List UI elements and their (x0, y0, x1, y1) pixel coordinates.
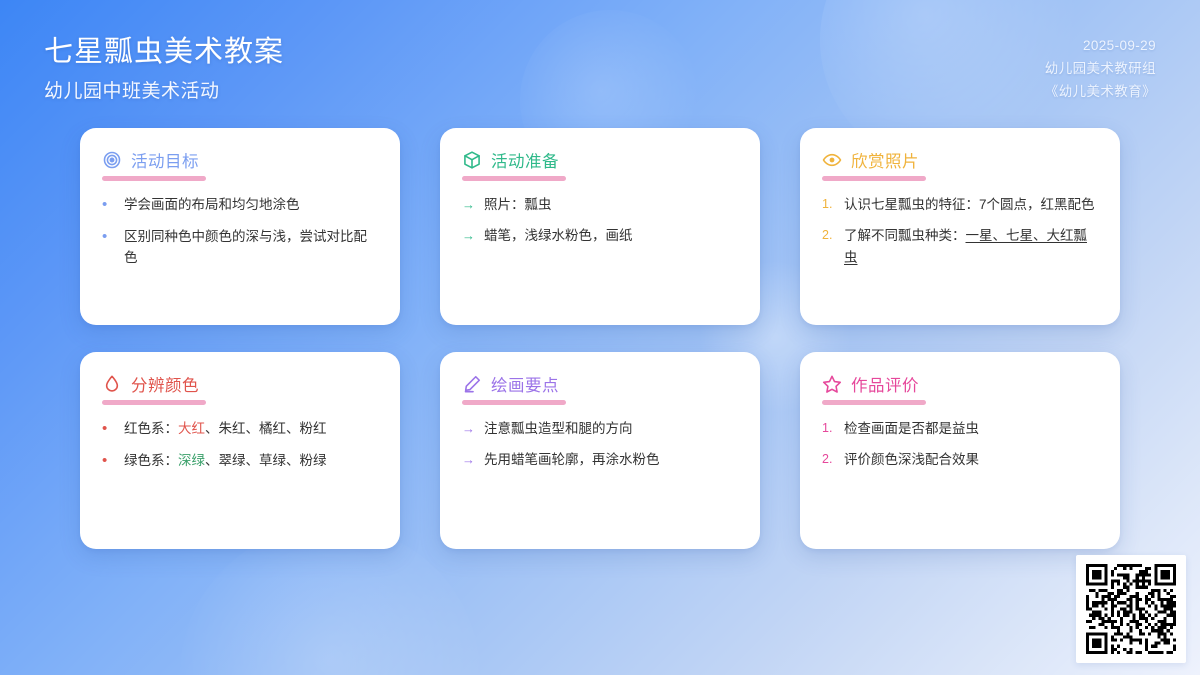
slide-header: 七星瓢虫美术教案 幼儿园中班美术活动 2025-09-29 幼儿园美术教研组 《… (0, 0, 1200, 128)
card-title: 分辨颜色 (131, 372, 199, 396)
list-item-text: 学会画面的布局和均匀地涂色 (124, 194, 378, 216)
meta-date: 2025-09-29 (1045, 34, 1156, 57)
card-title-underline (462, 400, 566, 405)
list-item-marker: → (462, 194, 475, 216)
qr-code-container[interactable] (1076, 555, 1186, 663)
list-item-marker: 2. (822, 449, 835, 471)
card-title: 活动目标 (131, 148, 199, 172)
list-item-marker: • (102, 450, 115, 473)
card-header: 活动准备 (462, 148, 738, 172)
list-item-text-main: 红色系： (124, 421, 178, 436)
eye-icon (822, 150, 842, 170)
list-item: 2.评价颜色深浅配合效果 (822, 449, 1098, 471)
list-item-marker: → (462, 449, 475, 471)
list-item-text-main: 区别同种色中颜色的深与浅，尝试对比配色 (124, 229, 367, 266)
qr-code (1085, 564, 1177, 654)
title-block: 七星瓢虫美术教案 幼儿园中班美术活动 (44, 34, 284, 103)
list-item-marker: 1. (822, 418, 835, 440)
list-item-marker: • (102, 194, 115, 217)
card-title-underline (822, 176, 926, 181)
meta-org: 幼儿园美术教研组 (1045, 57, 1156, 80)
card-item-list: 1.检查画面是否都是益虫2.评价颜色深浅配合效果 (822, 418, 1098, 471)
list-item-text-main: 绿色系： (124, 453, 178, 468)
list-item: •红色系：大红、朱红、橘红、粉红 (102, 418, 378, 441)
star-icon (822, 374, 842, 394)
list-item-text-main: 认识七星瓢虫的特征：7个圆点，红黑配色 (844, 197, 1095, 212)
card-item-list: →注意瓢虫造型和腿的方向→先用蜡笔画轮廓，再涂水粉色 (462, 418, 738, 472)
card-item-list: •学会画面的布局和均匀地涂色•区别同种色中颜色的深与浅，尝试对比配色 (102, 194, 378, 269)
list-item-text-main: 注意瓢虫造型和腿的方向 (484, 421, 633, 436)
list-item-marker: • (102, 418, 115, 441)
list-item-marker: 2. (822, 225, 835, 247)
card-appreciate-photos: 欣赏照片1.认识七星瓢虫的特征：7个圆点，红黑配色2.了解不同瓢虫种类：一星、七… (800, 128, 1120, 325)
list-item: 1.认识七星瓢虫的特征：7个圆点，红黑配色 (822, 194, 1098, 216)
list-item-text-main: 蜡笔，浅绿水粉色，画纸 (484, 228, 633, 243)
card-title: 欣赏照片 (851, 148, 919, 172)
card-item-list: →照片：瓢虫→蜡笔，浅绿水粉色，画纸 (462, 194, 738, 248)
card-item-list: 1.认识七星瓢虫的特征：7个圆点，红黑配色2.了解不同瓢虫种类：一星、七星、大红… (822, 194, 1098, 269)
card-header: 分辨颜色 (102, 372, 378, 396)
card-title-underline (462, 176, 566, 181)
card-header: 绘画要点 (462, 372, 738, 396)
list-item-text: 注意瓢虫造型和腿的方向 (484, 418, 738, 440)
target-icon (102, 150, 122, 170)
droplet-icon (102, 374, 122, 394)
card-item-list: •红色系：大红、朱红、橘红、粉红•绿色系：深绿、翠绿、草绿、粉绿 (102, 418, 378, 472)
list-item: •区别同种色中颜色的深与浅，尝试对比配色 (102, 226, 378, 270)
header-meta: 2025-09-29 幼儿园美术教研组 《幼儿美术教育》 (1045, 34, 1156, 104)
list-item: →先用蜡笔画轮廓，再涂水粉色 (462, 449, 738, 471)
list-item-text-main: 了解不同瓢虫种类： (844, 228, 966, 243)
list-item-text: 区别同种色中颜色的深与浅，尝试对比配色 (124, 226, 378, 270)
package-icon (462, 150, 482, 170)
list-item-highlight: 深绿 (178, 453, 205, 468)
card-title-underline (102, 176, 206, 181)
list-item-text: 绿色系：深绿、翠绿、草绿、粉绿 (124, 450, 378, 472)
card-header: 欣赏照片 (822, 148, 1098, 172)
list-item-text-tail: 、朱红、橘红、粉红 (205, 421, 327, 436)
list-item: •学会画面的布局和均匀地涂色 (102, 194, 378, 217)
card-header: 活动目标 (102, 148, 378, 172)
list-item-text-main: 检查画面是否都是益虫 (844, 421, 979, 436)
card-distinguish-colors: 分辨颜色•红色系：大红、朱红、橘红、粉红•绿色系：深绿、翠绿、草绿、粉绿 (80, 352, 400, 549)
list-item-text: 评价颜色深浅配合效果 (844, 449, 1098, 471)
list-item: →照片：瓢虫 (462, 194, 738, 216)
page-subtitle: 幼儿园中班美术活动 (44, 76, 284, 103)
list-item-text: 了解不同瓢虫种类：一星、七星、大红瓢虫 (844, 225, 1098, 269)
card-work-evaluation: 作品评价1.检查画面是否都是益虫2.评价颜色深浅配合效果 (800, 352, 1120, 549)
list-item-text: 蜡笔，浅绿水粉色，画纸 (484, 225, 738, 247)
list-item: •绿色系：深绿、翠绿、草绿、粉绿 (102, 450, 378, 473)
card-painting-key-points: 绘画要点→注意瓢虫造型和腿的方向→先用蜡笔画轮廓，再涂水粉色 (440, 352, 760, 549)
list-item-marker: → (462, 418, 475, 440)
card-title-underline (102, 400, 206, 405)
list-item-text: 检查画面是否都是益虫 (844, 418, 1098, 440)
card-title: 作品评价 (851, 372, 919, 396)
list-item-text-main: 照片：瓢虫 (484, 197, 552, 212)
list-item-text-main: 评价颜色深浅配合效果 (844, 452, 979, 467)
page-title: 七星瓢虫美术教案 (44, 34, 284, 70)
card-header: 作品评价 (822, 372, 1098, 396)
list-item: 2.了解不同瓢虫种类：一星、七星、大红瓢虫 (822, 225, 1098, 269)
card-title-underline (822, 400, 926, 405)
meta-source: 《幼儿美术教育》 (1045, 80, 1156, 103)
list-item: 1.检查画面是否都是益虫 (822, 418, 1098, 440)
card-title: 活动准备 (491, 148, 559, 172)
list-item-text-main: 学会画面的布局和均匀地涂色 (124, 197, 300, 212)
list-item: →蜡笔，浅绿水粉色，画纸 (462, 225, 738, 247)
list-item-text-main: 先用蜡笔画轮廓，再涂水粉色 (484, 452, 660, 467)
card-activity-goals: 活动目标•学会画面的布局和均匀地涂色•区别同种色中颜色的深与浅，尝试对比配色 (80, 128, 400, 325)
list-item-marker: • (102, 226, 115, 249)
list-item-text: 照片：瓢虫 (484, 194, 738, 216)
list-item-marker: → (462, 225, 475, 247)
list-item-highlight: 大红 (178, 421, 205, 436)
card-activity-preparation: 活动准备→照片：瓢虫→蜡笔，浅绿水粉色，画纸 (440, 128, 760, 325)
card-title: 绘画要点 (491, 372, 559, 396)
list-item-text-tail: 、翠绿、草绿、粉绿 (205, 453, 327, 468)
list-item: →注意瓢虫造型和腿的方向 (462, 418, 738, 440)
list-item-text: 先用蜡笔画轮廓，再涂水粉色 (484, 449, 738, 471)
card-grid: 活动目标•学会画面的布局和均匀地涂色•区别同种色中颜色的深与浅，尝试对比配色活动… (80, 128, 1120, 549)
list-item-marker: 1. (822, 194, 835, 216)
list-item-text: 红色系：大红、朱红、橘红、粉红 (124, 418, 378, 440)
pencil-icon (462, 374, 482, 394)
list-item-text: 认识七星瓢虫的特征：7个圆点，红黑配色 (844, 194, 1098, 216)
